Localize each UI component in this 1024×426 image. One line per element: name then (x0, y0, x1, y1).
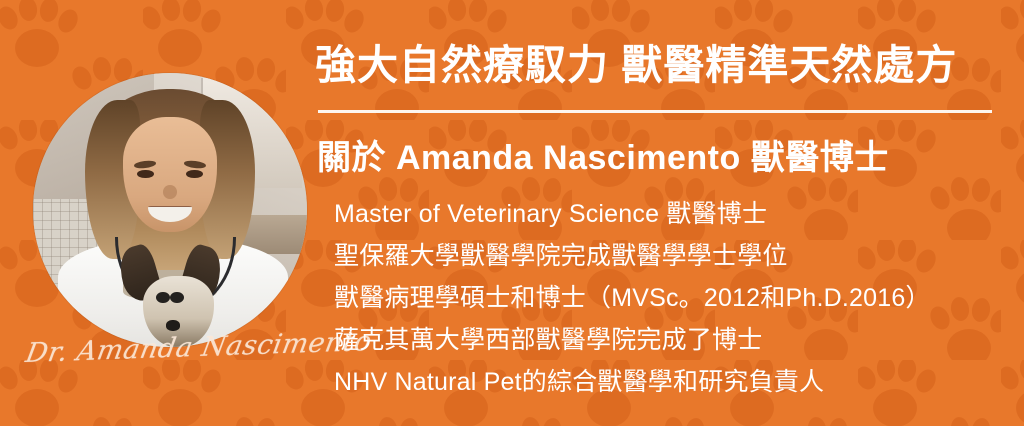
subheadline: 關於 Amanda Nascimento 獸醫博士 (317, 130, 889, 179)
list-item: Master of Veterinary Science 獸醫博士 (334, 193, 931, 235)
text-column: 強大自然療馭力 獸醫精準天然處方 關於 Amanda Nascimento 獸醫… (315, 0, 1015, 426)
headline: 強大自然療馭力 獸醫精準天然處方 (315, 42, 957, 89)
signature: Dr. Amanda Nascimento (26, 338, 306, 392)
bio-list: Master of Veterinary Science 獸醫博士 聖保羅大學獸… (334, 193, 931, 403)
headline-divider (318, 110, 992, 113)
portrait-image (33, 73, 307, 347)
list-item: 獸醫病理學碩士和博士（MVSc。2012和Ph.D.2016） (334, 277, 931, 319)
list-item: 薩克其萬大學西部獸醫學院完成了博士 (334, 319, 931, 361)
vet-profile-banner: Dr. Amanda Nascimento 強大自然療馭力 獸醫精準天然處方 關… (0, 0, 1024, 426)
list-item: 聖保羅大學獸醫學院完成獸醫學學士學位 (334, 235, 931, 277)
list-item: NHV Natural Pet的綜合獸醫學和研究負責人 (334, 361, 931, 403)
portrait-photo (33, 73, 307, 347)
